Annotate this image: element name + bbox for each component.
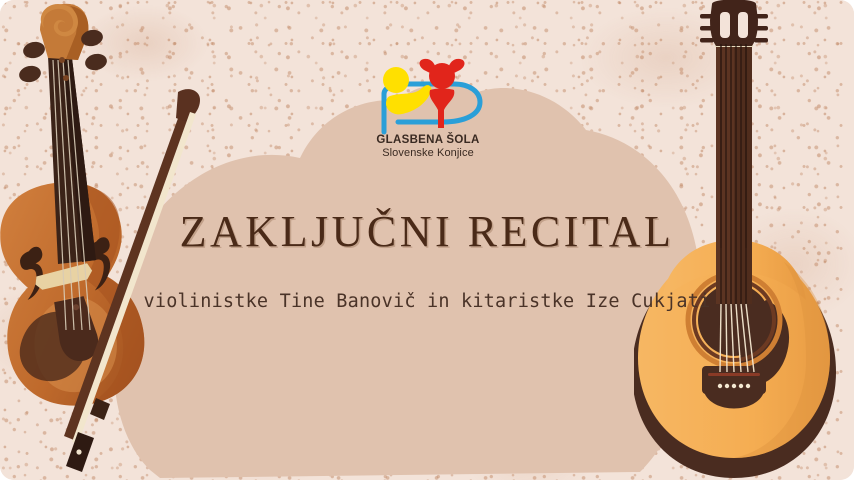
logo-text-line1: GLASBENA ŠOLA <box>368 134 488 147</box>
logo-text-line2: Slovenske Konjice <box>368 147 488 160</box>
poster-subtitle: violinistke Tine Banovič in kitaristke I… <box>0 291 854 312</box>
poster-canvas: GLASBENA ŠOLA Slovenske Konjice ZAKLJUČN… <box>0 0 854 480</box>
poster-title: ZAKLJUČNI RECITAL <box>0 206 854 257</box>
school-logo-mark <box>368 58 488 136</box>
yellow-figure-head <box>383 67 409 93</box>
school-logo: GLASBENA ŠOLA Slovenske Konjice <box>368 58 488 166</box>
